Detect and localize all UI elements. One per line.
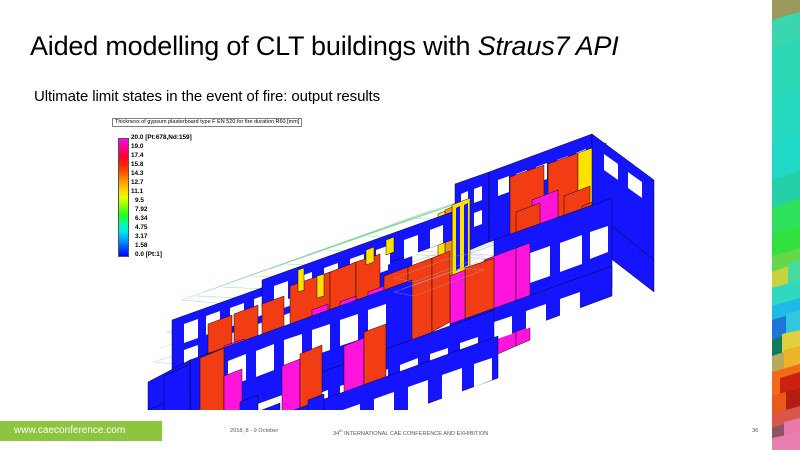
- page-title: Aided modelling of CLT buildings with St…: [30, 30, 730, 62]
- legend-title: Thickness of gypsum plasterboard type F …: [112, 118, 302, 127]
- decorative-color-strip: [772, 0, 800, 450]
- contour-legend: Thickness of gypsum plasterboard type F …: [112, 110, 374, 257]
- legend-tick: 15.8: [131, 160, 361, 169]
- legend-tick: 7.92: [131, 205, 361, 214]
- legend-color-bar: [118, 138, 129, 257]
- footer-conference-title: INTERNATIONAL CAE CONFERENCE AND EXHIBIT…: [343, 431, 489, 437]
- legend-tick: 6.34: [131, 214, 361, 223]
- slide-canvas: Aided modelling of CLT buildings with St…: [0, 0, 800, 450]
- legend-body: 20.0 [Pt:678,Nd:159] 19.0 17.4 15.8 14.3…: [112, 129, 374, 257]
- legend-tick-list: 20.0 [Pt:678,Nd:159] 19.0 17.4 15.8 14.3…: [131, 133, 361, 259]
- legend-tick: 4.75: [131, 223, 361, 232]
- footer-website-link[interactable]: www.caeconference.com: [14, 425, 125, 437]
- legend-tick: 12.7: [131, 178, 361, 187]
- legend-tick: 20.0 [Pt:678,Nd:159]: [131, 133, 361, 142]
- legend-tick: 11.1: [131, 187, 361, 196]
- mosaic-tiles: [772, 0, 800, 450]
- legend-tick: 3.17: [131, 232, 361, 241]
- footer-page-number: 36: [752, 427, 758, 435]
- legend-tick: 19.0: [131, 142, 361, 151]
- page-subtitle: Ultimate limit states in the event of fi…: [34, 88, 380, 106]
- legend-tick: 17.4: [131, 151, 361, 160]
- page-title-text: Aided modelling of CLT buildings with: [30, 31, 478, 61]
- legend-tick: 9.5: [131, 196, 361, 205]
- page-title-emphasis: Straus7 API: [478, 31, 619, 61]
- legend-tick: 0.0 [Pt:1]: [131, 250, 361, 259]
- footer-date: 2018, 8 - 9 October: [230, 427, 278, 435]
- legend-tick: 1.58: [131, 241, 361, 250]
- footer-conference-name: 34th INTERNATIONAL CAE CONFERENCE AND EX…: [333, 427, 488, 438]
- legend-tick: 14.3: [131, 169, 361, 178]
